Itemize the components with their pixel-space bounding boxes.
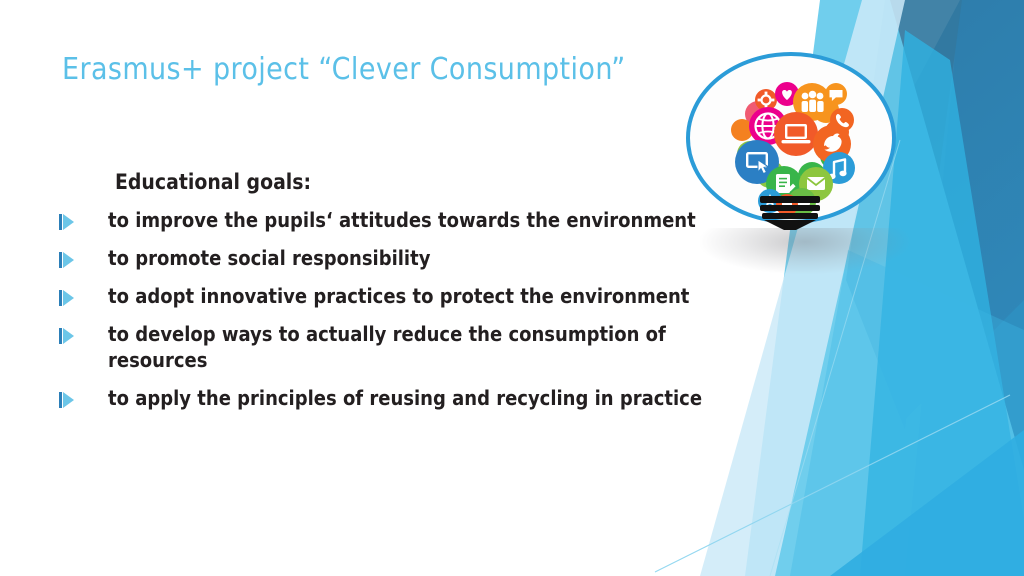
list-item-label: to apply the principles of reusing and r… (108, 385, 702, 411)
list-item: to develop ways to actually reduce the c… (58, 321, 758, 373)
triangle-bullet-icon (58, 391, 80, 411)
goals-heading: Educational goals: (115, 168, 758, 196)
list-item-label: to adopt innovative practices to protect… (108, 283, 689, 309)
chat-icon (825, 83, 847, 105)
list-item-label: to improve the pupils‘ attitudes towards… (108, 207, 696, 233)
list-item: to promote social responsibility (58, 245, 758, 271)
decor-shape-cyan-bottom (830, 430, 1024, 576)
list-item-label: to develop ways to actually reduce the c… (108, 321, 748, 373)
bulb-base-icon (760, 196, 820, 230)
laptop-icon (774, 112, 818, 156)
page-title: Erasmus+ project “Clever Consumption” (62, 52, 626, 87)
decor-shape-steel (880, 0, 1024, 420)
content-body: Educational goals: to improve the pupils… (58, 168, 758, 423)
triangle-bullet-icon (58, 327, 80, 347)
decor-shape-sheet (790, 250, 1024, 576)
decor-shape-deep-right (905, 0, 1024, 576)
list-item-label: to promote social responsibility (108, 245, 430, 271)
slide-canvas: Erasmus+ project “Clever Consumption” (0, 0, 1024, 576)
triangle-bullet-icon (58, 251, 80, 271)
list-item: to improve the pupils‘ attitudes towards… (58, 207, 758, 233)
list-item: to apply the principles of reusing and r… (58, 385, 758, 411)
list-item: to adopt innovative practices to protect… (58, 283, 758, 309)
triangle-bullet-icon (58, 289, 80, 309)
triangle-bullet-icon (58, 213, 80, 233)
